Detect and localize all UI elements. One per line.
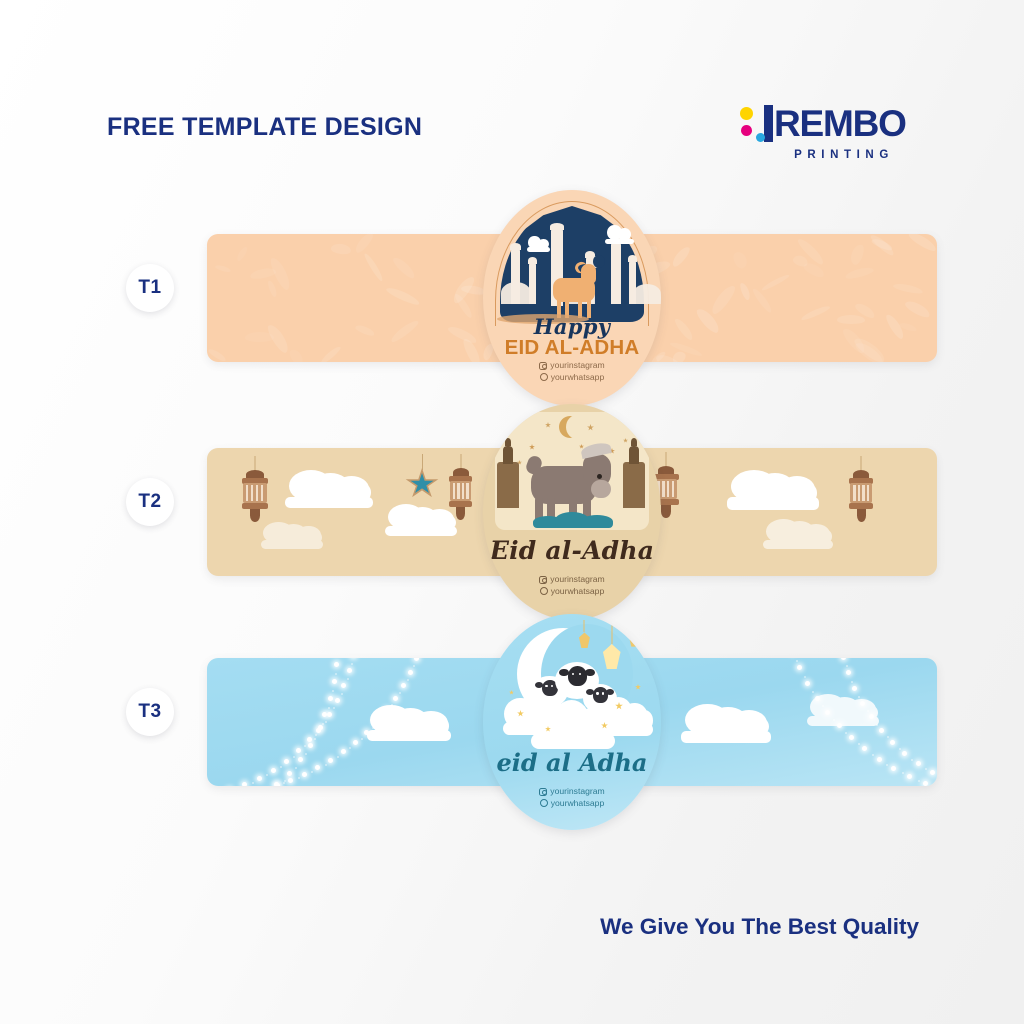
light-bulb-icon bbox=[849, 735, 854, 740]
light-bulb-icon bbox=[891, 766, 896, 771]
whatsapp-row-t2: yourwhatsapp bbox=[483, 586, 661, 598]
star-icon bbox=[587, 424, 594, 431]
goat-icon bbox=[545, 256, 603, 318]
template-row-t3: T3 eid al Adha yourinstagram yourwhatsap… bbox=[0, 614, 1024, 830]
instagram-row-t3: yourinstagram bbox=[483, 786, 661, 798]
light-bulb-icon bbox=[393, 696, 398, 701]
whatsapp-icon bbox=[540, 587, 548, 595]
title-text-t1: EID AL-ADHA bbox=[483, 336, 661, 360]
footer-tagline: We Give You The Best Quality bbox=[600, 914, 919, 940]
cloud-icon bbox=[527, 242, 550, 252]
cloud-icon bbox=[807, 704, 879, 726]
instagram-handle: yourinstagram bbox=[550, 786, 604, 798]
yellow-dot-icon bbox=[740, 107, 753, 120]
light-bulb-icon bbox=[916, 761, 921, 766]
light-bulb-icon bbox=[879, 728, 884, 733]
gold-star-icon bbox=[635, 684, 641, 690]
page-title: FREE TEMPLATE DESIGN bbox=[107, 113, 422, 142]
medallion-t2[interactable]: Eid al-Adha yourinstagram yourwhatsapp bbox=[483, 404, 661, 620]
title-text-t2: Eid al-Adha bbox=[483, 536, 661, 565]
cloud-icon bbox=[763, 528, 833, 549]
light-bulb-icon bbox=[284, 759, 289, 764]
hanging-star-icon bbox=[405, 454, 439, 500]
badge-t3[interactable]: T3 bbox=[126, 688, 174, 736]
instagram-icon bbox=[539, 576, 547, 584]
instagram-handle: yourinstagram bbox=[550, 360, 604, 372]
dome-icon bbox=[633, 284, 661, 304]
light-bulb-icon bbox=[275, 783, 280, 786]
light-bulb-icon bbox=[298, 757, 303, 762]
gold-star-icon bbox=[517, 710, 524, 717]
title-text-t3: eid al Adha bbox=[483, 748, 661, 777]
gold-star-icon bbox=[615, 702, 623, 710]
light-bulb-icon bbox=[902, 751, 907, 756]
social-handles-t3: yourinstagram yourwhatsapp bbox=[483, 786, 661, 809]
cyan-dot-icon bbox=[756, 133, 765, 142]
rembo-logo: REMBO PRINTING bbox=[738, 102, 928, 164]
light-bulb-icon bbox=[335, 698, 340, 703]
dome-icon bbox=[501, 282, 531, 304]
light-bulb-icon bbox=[930, 770, 935, 775]
light-bulb-icon bbox=[242, 782, 247, 786]
instagram-icon bbox=[539, 362, 547, 370]
magenta-dot-icon bbox=[741, 125, 752, 136]
social-handles-t2: yourinstagram yourwhatsapp bbox=[483, 574, 661, 597]
light-bulb-icon bbox=[341, 749, 346, 754]
light-bulb-icon bbox=[890, 740, 895, 745]
light-bulb-icon bbox=[347, 668, 352, 673]
light-bulb-icon bbox=[271, 768, 276, 773]
star-icon bbox=[623, 438, 628, 443]
social-handles-t1: yourinstagram yourwhatsapp bbox=[483, 360, 661, 383]
crescent-moon-icon bbox=[559, 416, 581, 438]
whatsapp-handle: yourwhatsapp bbox=[551, 798, 605, 810]
sheep-ear bbox=[535, 682, 543, 688]
goat-snout bbox=[591, 480, 611, 498]
gold-lantern-icon bbox=[579, 620, 590, 651]
gold-lantern-icon bbox=[629, 620, 639, 650]
sheep-icon bbox=[583, 684, 617, 713]
template-row-t2: T2 Eid al-Adha yourinstagram yourwhatsap… bbox=[0, 404, 1024, 620]
light-bulb-icon bbox=[332, 679, 337, 684]
instagram-row-t2: yourinstagram bbox=[483, 574, 661, 586]
whatsapp-row-t1: yourwhatsapp bbox=[483, 372, 661, 384]
logo-wordmark: REMBO bbox=[774, 104, 906, 144]
gold-star-icon bbox=[601, 722, 608, 729]
light-bulb-icon bbox=[805, 681, 810, 686]
whatsapp-icon bbox=[540, 799, 548, 807]
light-bulb-icon bbox=[414, 658, 419, 661]
light-bulb-icon bbox=[862, 746, 867, 751]
light-bulb-icon bbox=[328, 758, 333, 763]
whatsapp-handle: yourwhatsapp bbox=[551, 586, 605, 598]
light-bulb-icon bbox=[334, 662, 339, 667]
light-bulb-icon bbox=[322, 712, 327, 717]
light-bulb-icon bbox=[288, 778, 293, 783]
whatsapp-row-t3: yourwhatsapp bbox=[483, 798, 661, 810]
cloud-icon bbox=[531, 714, 615, 749]
lantern-icon bbox=[239, 456, 271, 521]
badge-t1[interactable]: T1 bbox=[126, 264, 174, 312]
instagram-row-t1: yourinstagram bbox=[483, 360, 661, 372]
light-bulb-icon bbox=[852, 686, 857, 691]
cloud-icon bbox=[385, 514, 457, 536]
light-bulb-icon bbox=[315, 765, 320, 770]
cloud-icon bbox=[285, 482, 373, 508]
light-bulb-icon bbox=[308, 743, 313, 748]
gold-lantern-icon bbox=[603, 624, 621, 674]
whatsapp-icon bbox=[540, 373, 548, 381]
light-bulb-icon bbox=[287, 771, 292, 776]
instagram-icon bbox=[539, 788, 547, 796]
light-bulb-icon bbox=[907, 774, 912, 779]
cloud-icon bbox=[681, 716, 771, 743]
light-bulb-icon bbox=[797, 665, 802, 670]
grass-icon bbox=[533, 512, 613, 528]
light-bulb-icon bbox=[877, 757, 882, 762]
cloud-icon bbox=[367, 716, 451, 741]
minaret-top bbox=[503, 446, 513, 464]
minaret-top bbox=[629, 446, 639, 464]
minaret-icon bbox=[611, 242, 621, 304]
light-bulb-icon bbox=[327, 712, 332, 717]
light-bulb-icon bbox=[316, 728, 321, 733]
cmyk-dots-icon bbox=[738, 104, 764, 144]
light-bulb-icon bbox=[408, 670, 413, 675]
light-bulb-icon bbox=[302, 772, 307, 777]
badge-t2[interactable]: T2 bbox=[126, 478, 174, 526]
logo-subtitle: PRINTING bbox=[738, 149, 928, 161]
lantern-icon bbox=[447, 454, 475, 511]
gold-star-icon bbox=[509, 690, 514, 695]
star-icon bbox=[545, 422, 551, 428]
light-bulb-icon bbox=[341, 683, 346, 688]
cloud-icon bbox=[605, 232, 634, 244]
sheep-ear bbox=[585, 669, 595, 677]
light-bulb-icon bbox=[296, 748, 301, 753]
light-bulb-icon bbox=[923, 781, 928, 786]
lantern-icon bbox=[847, 456, 876, 515]
medallion-t3[interactable]: eid al Adha yourinstagram yourwhatsapp bbox=[483, 614, 661, 830]
instagram-handle: yourinstagram bbox=[550, 574, 604, 586]
light-bulb-icon bbox=[328, 696, 333, 701]
light-bulb-icon bbox=[307, 737, 312, 742]
template-row-t1: T1 Happy EID AL-ADHA yourinstagram yourw… bbox=[0, 190, 1024, 406]
light-bulb-icon bbox=[841, 658, 846, 660]
light-bulb-icon bbox=[257, 776, 262, 781]
minaret-icon bbox=[623, 462, 645, 508]
whatsapp-handle: yourwhatsapp bbox=[551, 372, 605, 384]
light-bulb-icon bbox=[846, 670, 851, 675]
light-bulb-icon bbox=[401, 683, 406, 688]
minaret-icon bbox=[497, 462, 519, 508]
gold-star-icon bbox=[545, 726, 551, 732]
light-bulb-icon bbox=[353, 740, 358, 745]
cloud-icon bbox=[261, 530, 323, 549]
medallion-t1[interactable]: Happy EID AL-ADHA yourinstagram yourwhat… bbox=[483, 190, 661, 406]
cloud-icon bbox=[727, 482, 819, 510]
goat-eye bbox=[597, 474, 602, 479]
logo-bar-icon bbox=[764, 105, 773, 142]
